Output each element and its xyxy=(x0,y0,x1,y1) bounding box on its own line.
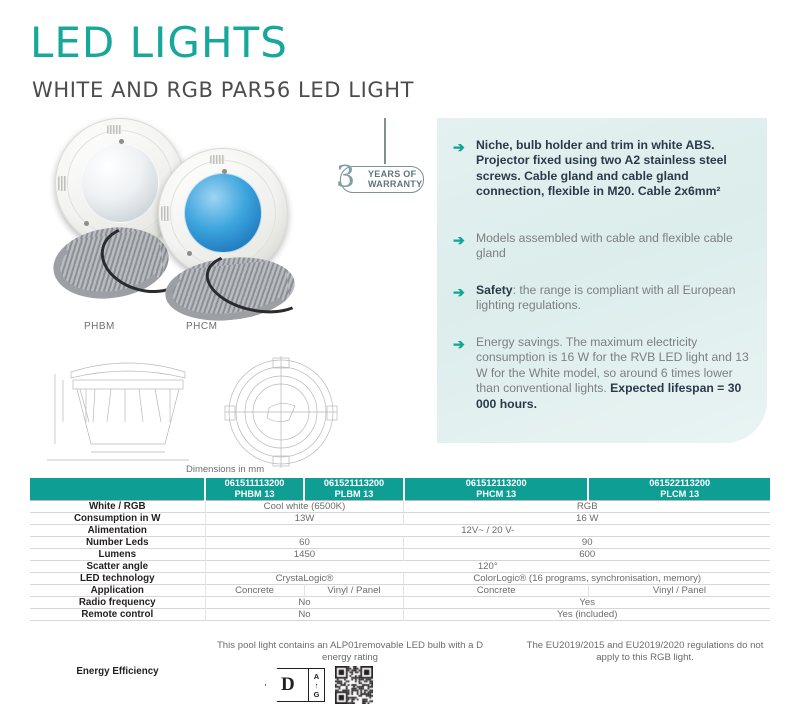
table-row-label: Number Leds xyxy=(30,537,205,549)
table-cell: No xyxy=(205,597,404,609)
table-row: Scatter angle120° xyxy=(30,561,770,573)
table-header-blank xyxy=(30,478,205,501)
energy-scale-arrow-icon: ↑ xyxy=(315,681,319,690)
product-code-3: 061512113200 xyxy=(405,478,587,489)
table-cell: 12V~ / 20 V- xyxy=(205,525,770,537)
lamp-vent-icon xyxy=(161,206,170,221)
lamp-lens-blue xyxy=(184,173,262,254)
table-cell: RGB xyxy=(404,501,770,513)
warranty-text: YEARS OF WARRANTY xyxy=(368,169,422,189)
product-name-3: PHCM 13 xyxy=(405,489,587,500)
lamp-screw-icon xyxy=(119,139,124,144)
lamp-vent-icon xyxy=(58,176,67,191)
arrow-right-icon: ➔ xyxy=(453,231,468,262)
page-title: LED LIGHTS xyxy=(30,18,288,67)
feature-bullet-3: ➔ Safety: the range is compliant with al… xyxy=(453,283,751,314)
table-header-col-1: 061511113200 PHBM 13 xyxy=(205,478,304,501)
feature-bullet-4-text: Energy savings. The maximum electricity … xyxy=(476,335,751,412)
table-cell: 16 W xyxy=(404,513,770,525)
table-cell: Vinyl / Panel xyxy=(588,585,770,597)
feature-bullet-3-lead: Safety xyxy=(476,283,513,297)
energy-scale-top: A xyxy=(314,672,319,681)
table-cell: Vinyl / Panel xyxy=(304,585,404,597)
table-row-label: Consumption in W xyxy=(30,513,205,525)
arrow-right-icon: ➔ xyxy=(453,283,468,314)
lamp-lens-white xyxy=(81,143,159,224)
qr-code-icon xyxy=(335,666,373,704)
table-header-row: 061511113200 PHBM 13 061521113200 PLBM 1… xyxy=(30,478,770,501)
feature-bullet-3-text: Safety: the range is compliant with all … xyxy=(476,283,751,314)
table-header: 061511113200 PHBM 13 061521113200 PLBM 1… xyxy=(30,478,770,501)
table-header-col-3: 061512113200 PHCM 13 xyxy=(404,478,588,501)
table-row-label: LED technology xyxy=(30,573,205,585)
energy-grade-letter: D xyxy=(281,673,295,696)
table-header-col-4: 061522113200 PLCM 13 xyxy=(588,478,770,501)
table-cell: 90 xyxy=(404,537,770,549)
product-name-1: PHBM 13 xyxy=(206,489,303,500)
dimension-drawing-svg xyxy=(33,352,363,472)
arrow-right-icon: ➔ xyxy=(453,335,468,412)
warranty-years-number: 3 xyxy=(336,160,355,195)
table-cell: Cool white (6500K) xyxy=(205,501,404,513)
table-cell: 120° xyxy=(205,561,770,573)
dimensions-caption: Dimensions in mm xyxy=(186,464,264,475)
table-row: Number Leds6090 xyxy=(30,537,770,549)
arrow-right-icon: ➔ xyxy=(453,138,468,200)
product-code-4: 061522113200 xyxy=(589,478,770,489)
lamp-vent-icon xyxy=(107,125,122,134)
table-cell: No xyxy=(205,609,404,621)
table-row-label: Application xyxy=(30,585,205,597)
table-header-col-2: 061521113200 PLBM 13 xyxy=(304,478,404,501)
table-row: White / RGBCool white (6500K)RGB xyxy=(30,501,770,513)
energy-scale: A ↑ G xyxy=(309,668,325,702)
energy-note-left: This pool light contains an ALP01removab… xyxy=(205,640,495,663)
photo-caption-phbm: PHBM xyxy=(84,321,115,332)
table-row: Remote controlNoYes (included) xyxy=(30,609,770,621)
table-cell: Yes xyxy=(404,597,770,609)
lamp-screw-icon xyxy=(84,221,89,226)
lamp-screw-icon xyxy=(222,169,227,174)
feature-bullet-1: ➔ Niche, bulb holder and trim in white A… xyxy=(453,138,751,200)
dimension-drawings xyxy=(33,352,363,472)
product-photo-group: PHBM PHCM xyxy=(45,108,375,323)
feature-bullet-3-rest: : the range is compliant with all Europe… xyxy=(476,283,735,312)
table-cell: Concrete xyxy=(404,585,588,597)
energy-efficiency-label: Energy Efficiency xyxy=(30,666,205,677)
product-code-1: 061511113200 xyxy=(206,478,303,489)
table-cell: CrystaLogic® xyxy=(205,573,404,585)
warranty-line1: YEARS OF xyxy=(368,169,422,179)
table-row-label: Alimentation xyxy=(30,525,205,537)
energy-scale-bottom: G xyxy=(314,690,320,699)
table-row: Alimentation12V~ / 20 V- xyxy=(30,525,770,537)
specifications-table: 061511113200 PHBM 13 061521113200 PLBM 1… xyxy=(30,478,770,621)
product-name-4: PLCM 13 xyxy=(589,489,770,500)
table-row-label: Radio frequency xyxy=(30,597,205,609)
product-name-2: PLBM 13 xyxy=(305,489,403,500)
table-row: Consumption in W13W16 W xyxy=(30,513,770,525)
table-row-label: Remote control xyxy=(30,609,205,621)
table-cell: Yes (included) xyxy=(404,609,770,621)
warranty-stem xyxy=(384,118,386,164)
table-body: White / RGBCool white (6500K)RGBConsumpt… xyxy=(30,501,770,621)
table-row: LED technologyCrystaLogic®ColorLogic® (1… xyxy=(30,573,770,585)
table-row: Radio frequencyNoYes xyxy=(30,597,770,609)
table-row: ApplicationConcreteVinyl / PanelConcrete… xyxy=(30,585,770,597)
page-subtitle: WHITE AND RGB PAR56 LED LIGHT xyxy=(32,78,414,102)
lamp-vent-icon xyxy=(210,155,225,164)
table-cell: 1450 xyxy=(205,549,404,561)
table-cell: Concrete xyxy=(205,585,304,597)
feature-bullet-4: ➔ Energy savings. The maximum electricit… xyxy=(453,335,751,412)
table-cell: 13W xyxy=(205,513,404,525)
table-cell: ColorLogic® (16 programs, synchronisatio… xyxy=(404,573,770,585)
lamp-screw-icon xyxy=(187,251,192,256)
table-row-label: Scatter angle xyxy=(30,561,205,573)
feature-bullet-1-text: Niche, bulb holder and trim in white ABS… xyxy=(476,138,751,200)
product-code-2: 061521113200 xyxy=(305,478,403,489)
feature-bullet-2-text: Models assembled with cable and flexible… xyxy=(476,231,751,262)
table-cell: 60 xyxy=(205,537,404,549)
energy-rating-badge: D A ↑ G xyxy=(265,668,327,702)
feature-panel: ➔ Niche, bulb holder and trim in white A… xyxy=(437,118,767,443)
warranty-line2: WARRANTY xyxy=(368,179,422,189)
table-row-label: Lumens xyxy=(30,549,205,561)
photo-caption-phcm: PHCM xyxy=(186,321,217,332)
table-row: Lumens1450600 xyxy=(30,549,770,561)
feature-bullet-2: ➔ Models assembled with cable and flexib… xyxy=(453,231,751,262)
table-cell: 600 xyxy=(404,549,770,561)
warranty-badge: 3 YEARS OF WARRANTY xyxy=(332,118,428,210)
energy-note-right: The EU2019/2015 and EU2019/2020 regulati… xyxy=(520,640,770,663)
table-row-label: White / RGB xyxy=(30,501,205,513)
